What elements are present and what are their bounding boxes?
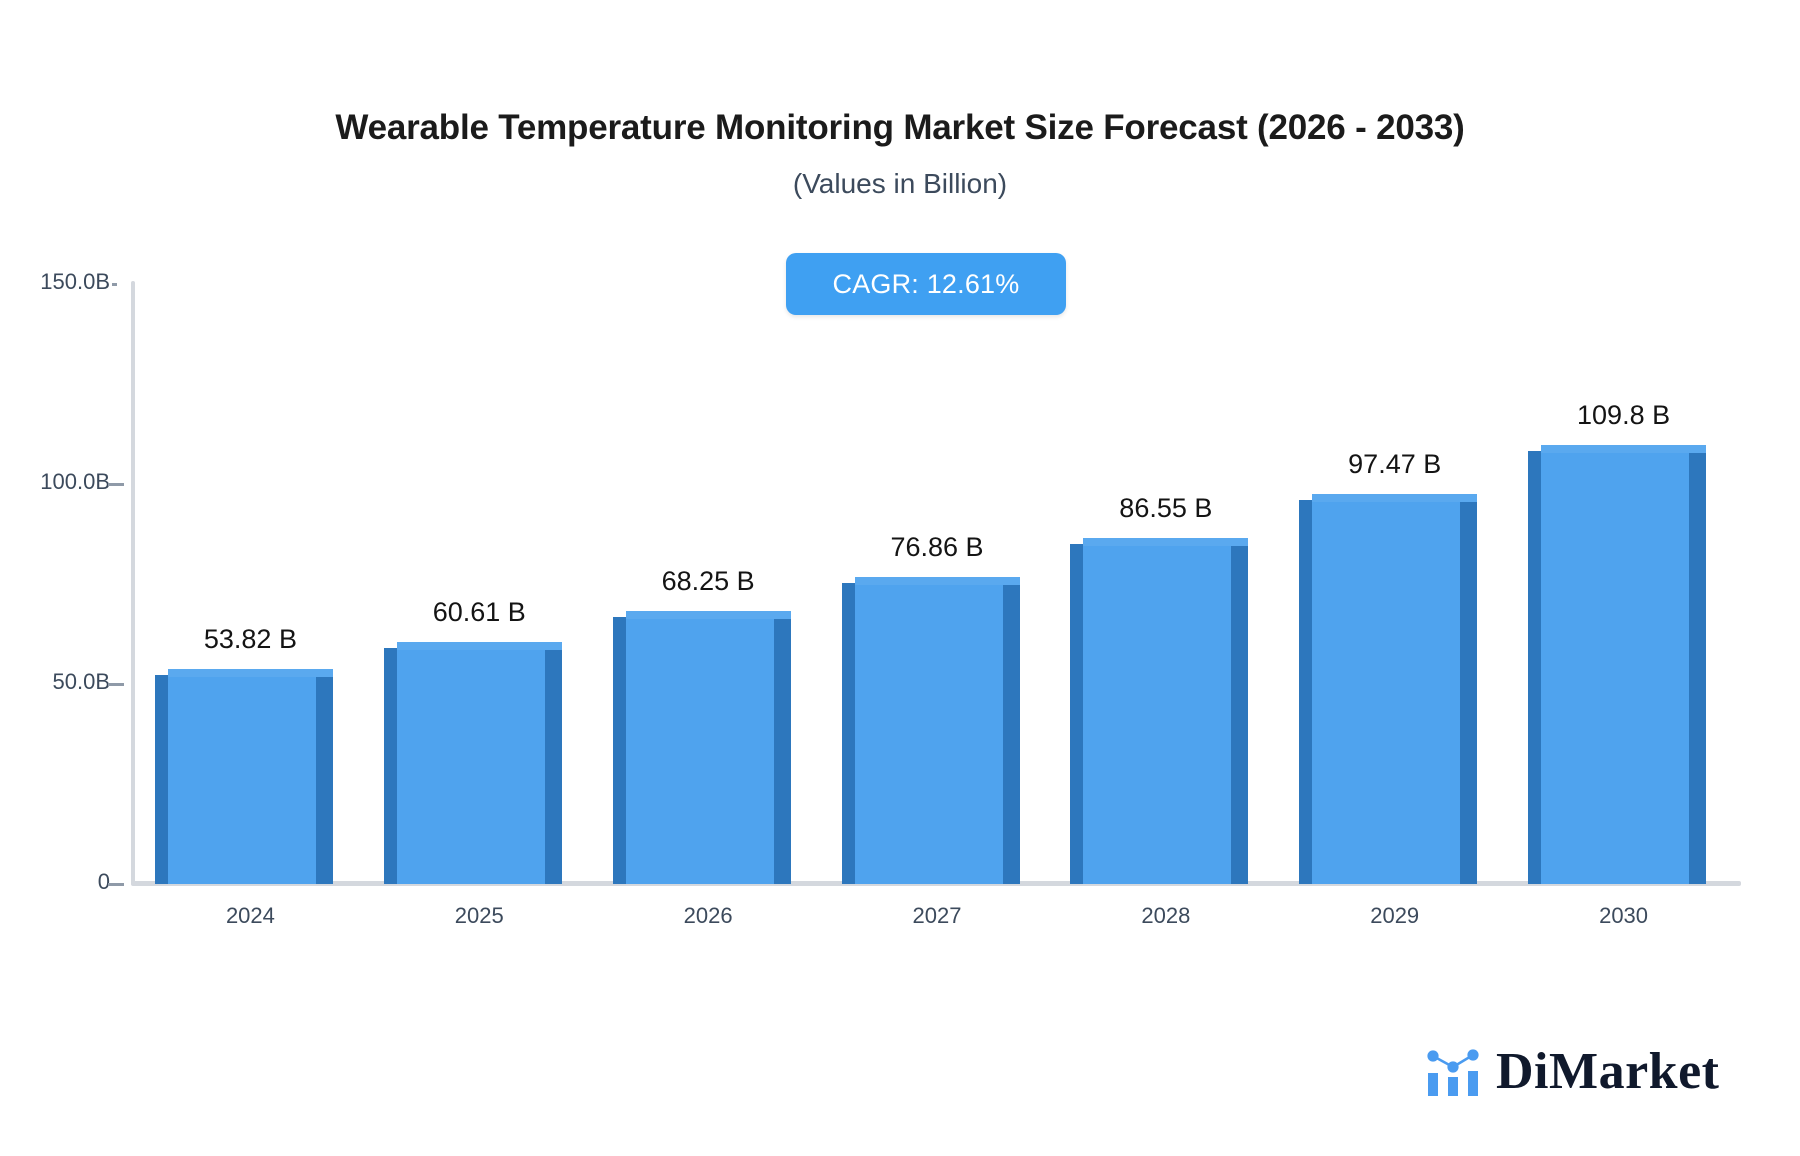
bar-right-shade: [1231, 544, 1248, 884]
y-axis-tick-label: 100.0B: [0, 469, 110, 495]
x-axis-tick-label: 2030: [1599, 903, 1648, 929]
bar-2027[interactable]: 76.86 B: [855, 577, 1020, 884]
bar-value-label: 86.55 B: [1119, 493, 1212, 524]
logo-wordmark: DiMarket: [1496, 1046, 1719, 1098]
bar-value-label: 97.47 B: [1348, 449, 1441, 480]
bar-left-shade: [613, 617, 626, 884]
bar-left-shade: [842, 583, 855, 884]
x-axis-tick-label: 2027: [913, 903, 962, 929]
x-axis-tick-label: 2026: [684, 903, 733, 929]
bar-top-face: [397, 642, 562, 650]
x-axis-tick-label: 2024: [226, 903, 275, 929]
bar-left-shade: [384, 648, 397, 884]
dimarket-logo: DiMarket: [1424, 1046, 1719, 1098]
bar-right-shade: [1003, 583, 1020, 884]
bar-value-label: 53.82 B: [204, 624, 297, 655]
y-axis-tick-mark: [112, 283, 117, 286]
bar-chart-trend-icon: [1424, 1046, 1482, 1098]
bar-left-shade: [155, 675, 168, 884]
bar-front-face: [1312, 494, 1460, 884]
bar-2029[interactable]: 97.47 B: [1312, 494, 1477, 884]
y-axis-tick-mark: [108, 883, 124, 886]
bar-right-shade: [774, 617, 791, 884]
bar-2030[interactable]: 109.8 B: [1541, 445, 1706, 884]
bar-front-face: [1541, 445, 1689, 884]
bar-chart-plot: 050.0B100.0B150.0B 53.82 B60.61 B68.25 B…: [0, 0, 1800, 1156]
bar-right-shade: [1460, 500, 1477, 884]
y-axis-tick-mark: [108, 483, 124, 486]
bar-top-face: [855, 577, 1020, 585]
bar-left-shade: [1528, 451, 1541, 884]
y-axis-line: [131, 281, 135, 885]
bar-value-label: 76.86 B: [890, 532, 983, 563]
bar-value-label: 60.61 B: [433, 597, 526, 628]
bar-front-face: [1083, 538, 1231, 884]
bar-value-label: 68.25 B: [662, 566, 755, 597]
x-axis-tick-label: 2029: [1370, 903, 1419, 929]
y-axis-tick-label: 50.0B: [0, 669, 110, 695]
y-axis-tick-mark: [108, 683, 124, 686]
bar-2025[interactable]: 60.61 B: [397, 642, 562, 884]
bar-left-shade: [1070, 544, 1083, 884]
x-axis-tick-label: 2025: [455, 903, 504, 929]
bar-top-face: [1312, 494, 1477, 502]
bar-value-label: 109.8 B: [1577, 400, 1670, 431]
bar-front-face: [168, 669, 316, 884]
bar-right-shade: [1689, 451, 1706, 884]
y-axis-tick-label: 150.0B: [0, 269, 110, 295]
chart-page: Wearable Temperature Monitoring Market S…: [0, 0, 1800, 1156]
bar-right-shade: [316, 675, 333, 884]
y-axis-tick-label: 0: [0, 869, 110, 895]
bar-front-face: [397, 642, 545, 884]
bar-2024[interactable]: 53.82 B: [168, 669, 333, 884]
bar-top-face: [1541, 445, 1706, 453]
bar-left-shade: [1299, 500, 1312, 884]
bar-top-face: [626, 611, 791, 619]
bar-2026[interactable]: 68.25 B: [626, 611, 791, 884]
bar-front-face: [855, 577, 1003, 884]
bar-right-shade: [545, 648, 562, 884]
bar-front-face: [626, 611, 774, 884]
bar-2028[interactable]: 86.55 B: [1083, 538, 1248, 884]
x-axis-tick-label: 2028: [1141, 903, 1190, 929]
bar-top-face: [1083, 538, 1248, 546]
bar-top-face: [168, 669, 333, 677]
